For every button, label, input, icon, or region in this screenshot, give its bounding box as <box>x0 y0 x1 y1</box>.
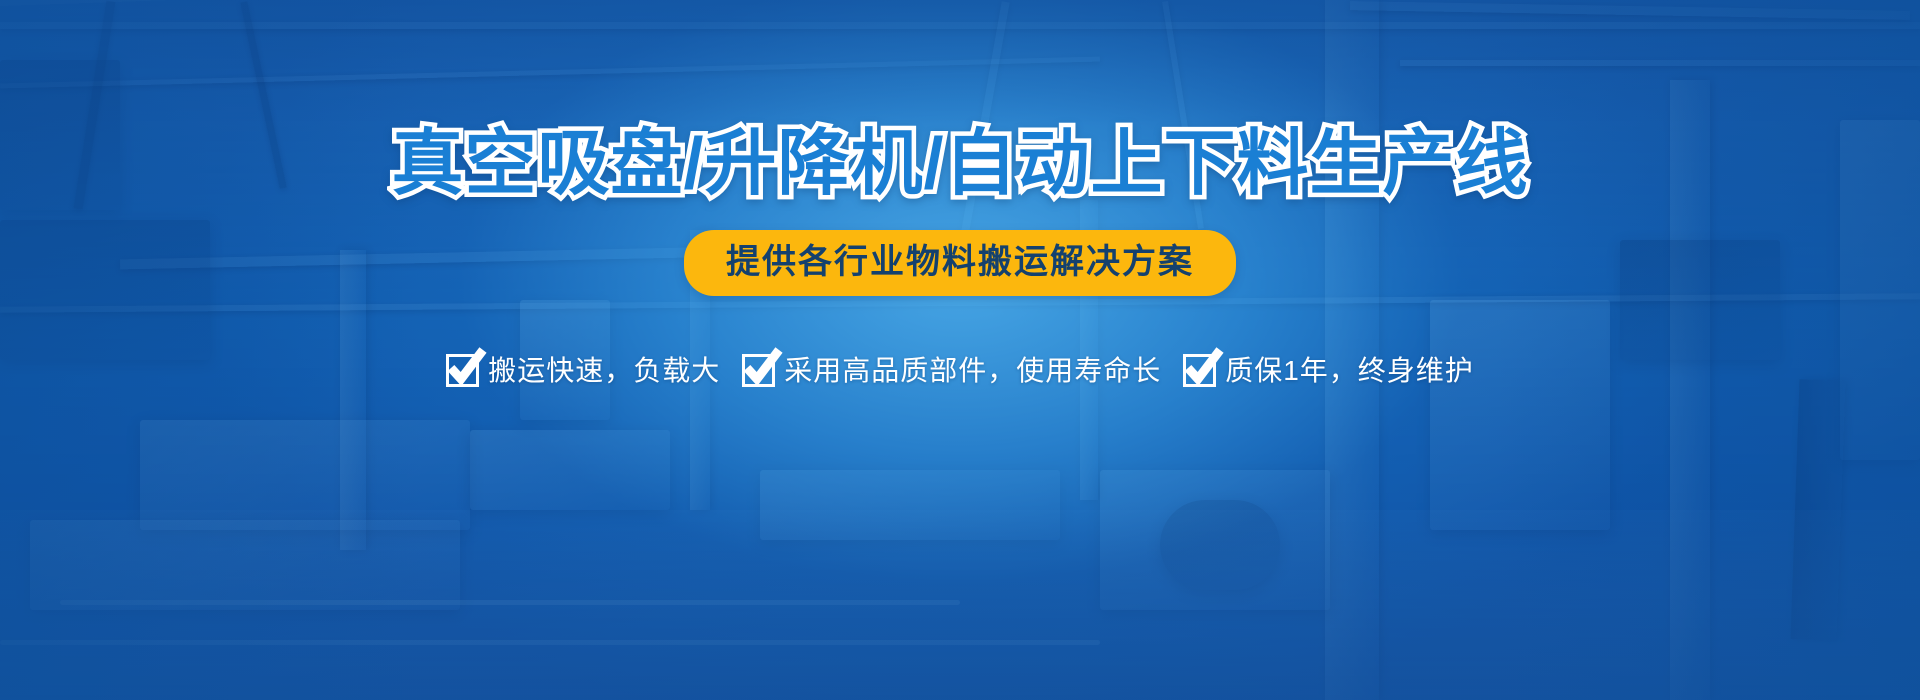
feature-item: 采用高品质部件，使用寿命长 <box>742 354 1161 387</box>
page-title: 真空吸盘/升降机/自动上下料生产线 <box>391 128 1528 200</box>
feature-item: 质保1年，终身维护 <box>1183 354 1474 387</box>
check-icon <box>1183 354 1216 387</box>
check-icon <box>446 354 479 387</box>
feature-label: 采用高品质部件，使用寿命长 <box>784 357 1161 385</box>
feature-label: 搬运快速，负载大 <box>488 357 720 385</box>
feature-label: 质保1年，终身维护 <box>1225 357 1474 385</box>
check-icon <box>742 354 775 387</box>
banner-content: 真空吸盘/升降机/自动上下料生产线 提供各行业物料搬运解决方案 搬运快速，负载大… <box>0 0 1920 700</box>
feature-item: 搬运快速，负载大 <box>446 354 720 387</box>
subtitle-pill-badge: 提供各行业物料搬运解决方案 <box>684 230 1236 296</box>
feature-list: 搬运快速，负载大 采用高品质部件，使用寿命长 质保1年，终身维护 <box>446 354 1474 387</box>
hero-banner: 真空吸盘/升降机/自动上下料生产线 提供各行业物料搬运解决方案 搬运快速，负载大… <box>0 0 1920 700</box>
